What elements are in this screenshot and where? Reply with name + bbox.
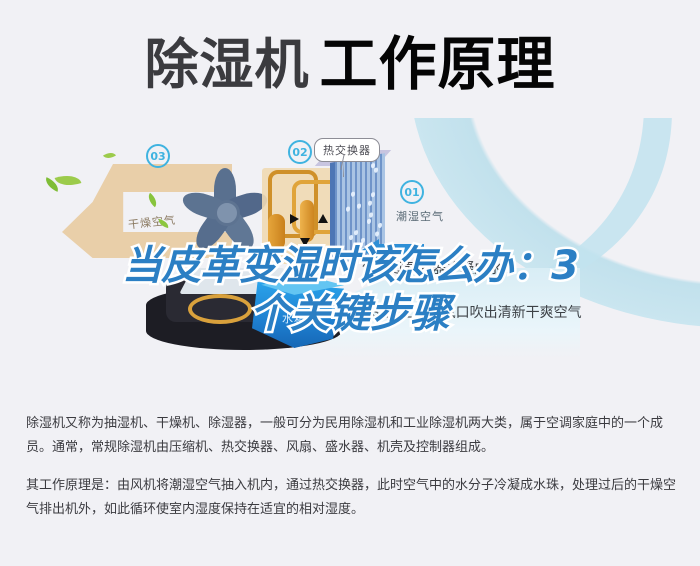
condensation-droplet-icon [346,206,350,212]
body-paragraph-2: 其工作原理是：由风机将潮湿空气抽入机内，通过热交换器，此时空气中的水分子冷凝成水… [26,474,678,522]
condensation-droplet-icon [368,201,372,207]
condensation-droplet-icon [371,192,375,198]
heat-exchanger-callout: 热交换器 [314,138,380,162]
step-03-text: 从上部出风口吹出清新干爽空气 [386,302,582,322]
step-item-02: 气经过蒸发器冷凝成水珠 [362,258,516,278]
condensation-droplet-icon [374,167,378,173]
unit-ring-icon [188,294,252,324]
compressor-cylinder-icon [268,214,285,250]
step-item-03: 03 从上部出风口吹出清新干爽空气 [364,302,582,322]
leaf-icon [55,171,82,191]
condensation-droplet-icon [349,234,353,240]
condensation-droplet-icon [351,192,355,198]
badge-02: 02 [288,140,312,164]
body-paragraph-1: 除湿机又称为抽湿机、干燥机、除湿器，一般可分为民用除湿机和工业除湿机两大类，属于… [26,412,678,460]
badge-01: 01 [400,180,424,204]
flow-arrow-up-icon [318,214,328,223]
poster-page: 除湿机 工作原理 干燥空气 [0,0,700,566]
fan-hub-icon [214,200,240,226]
condensation-droplet-icon [378,223,382,229]
condensation-droplet-icon [375,231,379,237]
fan-icon [176,162,272,258]
dehumidifier-diagram: 干燥空气 水箱 03 02 [0,118,700,403]
dry-air-label: 干燥空气 [127,212,176,233]
condensation-droplet-icon [354,230,358,236]
badge-03: 03 [146,144,170,168]
article-body: 除湿机又称为抽湿机、干燥机、除湿器，一般可分为民用除湿机和工业除湿机两大类，属于… [26,412,678,536]
condensation-droplet-icon [357,203,361,209]
flow-arrow-down-icon [300,238,310,247]
water-tank-label: 水箱 [282,310,306,326]
condensation-droplet-icon [369,213,373,219]
flow-arrow-right-icon [290,214,299,224]
humid-air-label: 潮湿空气 [396,208,444,224]
page-title: 除湿机 工作原理 [0,0,700,118]
page-title-gray-part: 除湿机 [144,20,309,99]
page-title-black-part: 工作原理 [319,17,555,101]
step-03-number: 03 [364,304,380,320]
leaf-icon [103,150,116,162]
step-02-text: 气经过蒸发器冷凝成水珠 [362,258,516,278]
compressor-cylinder-icon [300,200,314,242]
air-intake-arrow-icon [378,244,424,256]
condensation-droplet-icon [367,219,371,225]
leaf-icon [145,193,160,207]
